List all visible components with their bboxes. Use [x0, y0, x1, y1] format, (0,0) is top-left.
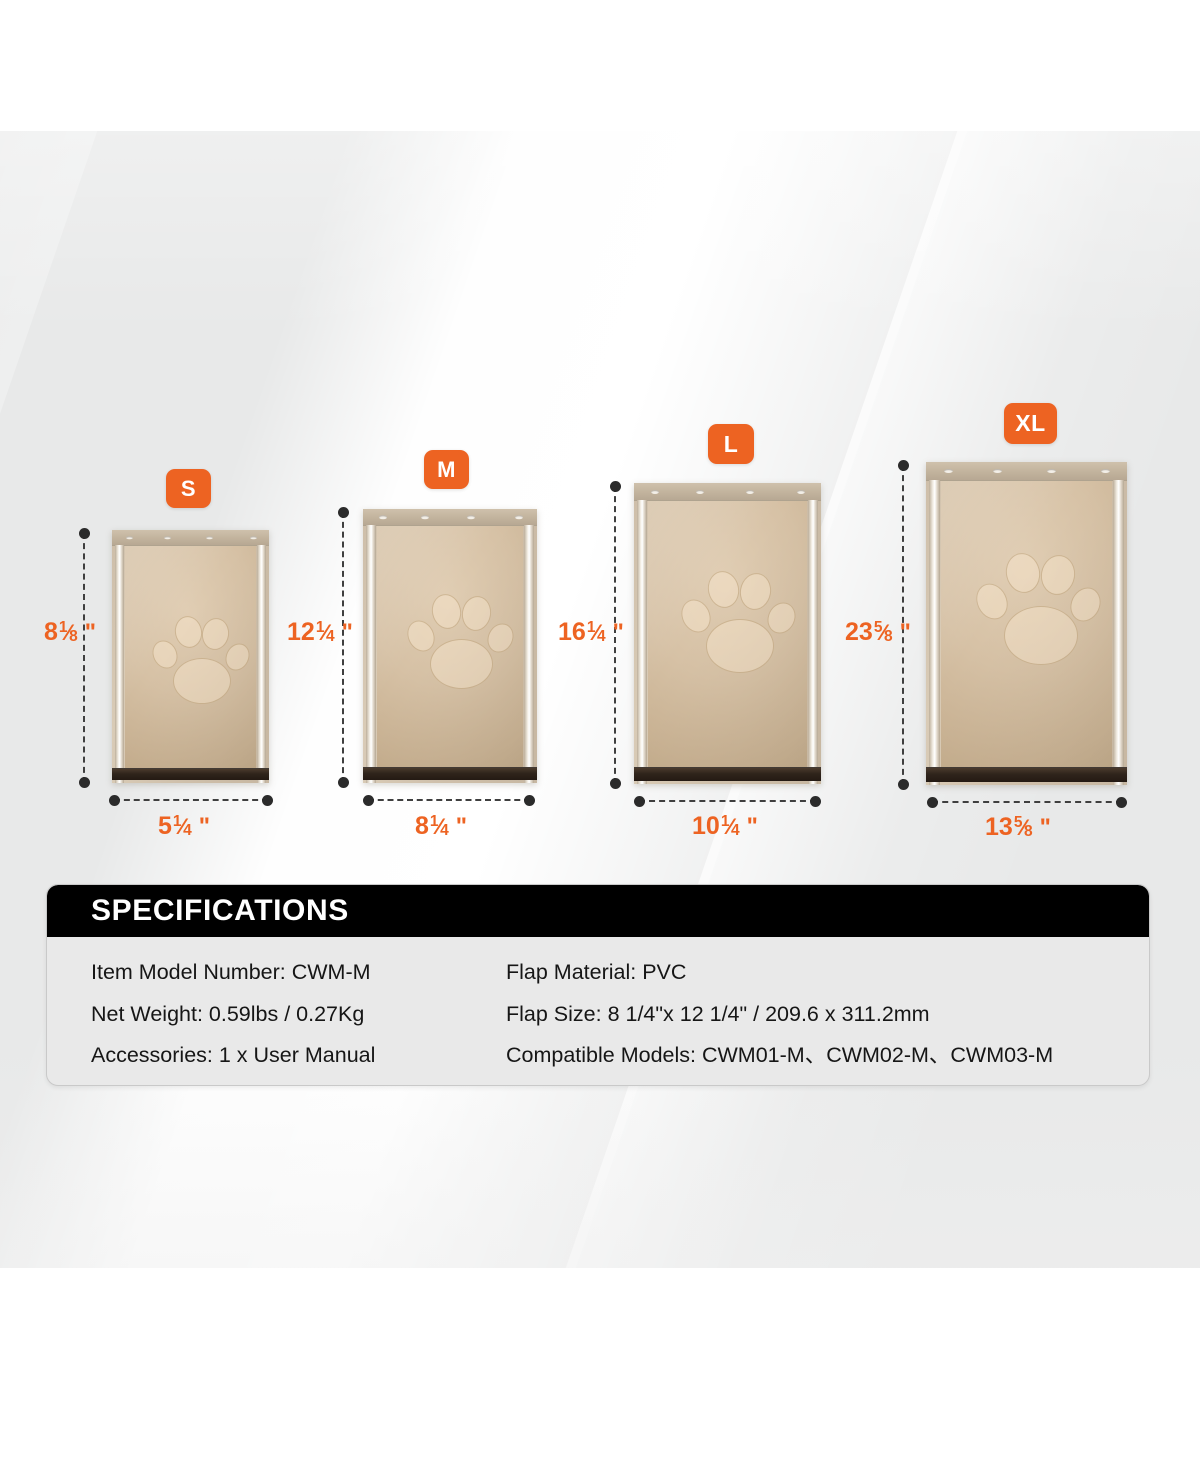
panel-top-mount-bar [634, 483, 821, 501]
pet-door-flap [377, 526, 523, 780]
dimension-unit: " [85, 619, 96, 647]
dimension-label-height-xl: 235⁄8" [845, 618, 911, 647]
specifications-card: SPECIFICATIONS Item Model Number: CWM-M … [46, 884, 1150, 1086]
specifications-body: Item Model Number: CWM-M Flap Material: … [47, 937, 1149, 1086]
dimension-endpoint [634, 796, 645, 807]
dimension-unit: " [900, 619, 911, 647]
fraction-denominator: 8 [69, 629, 78, 645]
dimension-stroke [639, 800, 816, 802]
fraction-denominator: 4 [440, 823, 449, 839]
screw-hole-icon [164, 536, 171, 540]
dimension-stroke [342, 512, 344, 783]
screw-hole-icon [515, 515, 523, 519]
dimension-endpoint [79, 528, 90, 539]
screw-hole-icon [206, 536, 213, 540]
dimension-stroke [114, 799, 268, 801]
dimension-line-horizontal-s [114, 799, 268, 801]
dimension-endpoint [1116, 797, 1127, 808]
spec-compatible-models: Compatible Models: CWM01-M、CWM02-M、CWM03… [506, 1042, 1149, 1070]
specifications-title: SPECIFICATIONS [47, 894, 349, 928]
dimension-value: 13 [985, 813, 1013, 842]
paw-print-icon [402, 594, 502, 672]
dimension-unit: " [1040, 814, 1051, 842]
size-badge-m: M [424, 450, 469, 489]
screw-hole-icon [696, 490, 704, 494]
dimension-unit: " [342, 619, 353, 647]
dimension-endpoint [524, 795, 535, 806]
door-panel-m [363, 509, 537, 783]
spec-net-weight: Net Weight: 0.59lbs / 0.27Kg [91, 1001, 506, 1029]
pet-door-flap [648, 501, 807, 781]
panel-bottom-weight-strip [363, 767, 537, 780]
spec-accessories: Accessories: 1 x User Manual [91, 1042, 506, 1070]
dimension-unit: " [456, 813, 467, 841]
dimension-line-vertical-m [342, 512, 344, 783]
size-badge-l: L [708, 424, 754, 464]
panel-side-rail-left [366, 525, 376, 783]
door-panel-l [634, 483, 821, 784]
screw-hole-icon [467, 515, 475, 519]
dimension-stroke [83, 533, 85, 783]
dimension-endpoint [109, 795, 120, 806]
dimension-endpoint [898, 779, 909, 790]
paw-print-icon [676, 571, 784, 655]
screw-hole-icon [126, 536, 133, 540]
dimension-line-vertical-s [83, 533, 85, 783]
dimension-endpoint [610, 778, 621, 789]
dimension-line-horizontal-m [368, 799, 530, 801]
dimension-label-height-l: 161⁄4" [558, 618, 624, 647]
dimension-stroke [368, 799, 530, 801]
spec-flap-material: Flap Material: PVC [506, 959, 1149, 987]
size-badge-xl: XL [1004, 403, 1057, 444]
dimension-line-horizontal-xl [932, 801, 1122, 803]
size-badge-s: S [166, 469, 211, 508]
screw-hole-icon [746, 490, 754, 494]
panel-side-rail-left [929, 480, 940, 785]
pet-door-flap [125, 546, 256, 780]
panel-top-mount-bar [926, 462, 1127, 481]
dimension-value: 12 [287, 618, 315, 647]
dimension-value: 5 [158, 812, 172, 841]
dimension-label-height-m: 121⁄4" [287, 618, 353, 647]
panel-side-rail-right [1113, 480, 1124, 785]
screw-hole-icon [250, 536, 257, 540]
screw-hole-icon [379, 515, 387, 519]
panel-bottom-weight-strip [926, 767, 1127, 782]
dimension-endpoint [898, 460, 909, 471]
screw-hole-icon [1047, 469, 1056, 473]
dimension-endpoint [610, 481, 621, 492]
dimension-label-height-s: 81⁄8" [44, 618, 96, 647]
dimension-endpoint [79, 777, 90, 788]
panel-top-mount-bar [112, 530, 269, 546]
size-badge-l-label: L [724, 431, 739, 458]
dimension-value: 23 [845, 618, 873, 647]
screw-hole-icon [944, 469, 953, 473]
dimension-endpoint [262, 795, 273, 806]
dimension-endpoint [363, 795, 374, 806]
panel-side-rail-right [808, 500, 818, 784]
dimension-value: 8 [415, 812, 429, 841]
panel-side-rail-right [257, 545, 266, 783]
screw-hole-icon [797, 490, 805, 494]
spec-item-model-number: Item Model Number: CWM-M [91, 959, 506, 987]
panel-top-mount-bar [363, 509, 537, 526]
screw-hole-icon [993, 469, 1002, 473]
screw-hole-icon [651, 490, 659, 494]
panel-bottom-weight-strip [634, 767, 821, 781]
screw-hole-icon [1101, 469, 1110, 473]
dimension-endpoint [338, 777, 349, 788]
size-badge-m-label: M [437, 457, 456, 483]
fraction-denominator: 8 [1024, 824, 1033, 840]
paw-print-icon [971, 553, 1089, 645]
dimension-unit: " [747, 813, 758, 841]
fraction-denominator: 8 [884, 629, 893, 645]
paw-print-icon [147, 616, 239, 688]
dimension-label-width-m: 81⁄4" [415, 812, 467, 841]
dimension-unit: " [613, 619, 624, 647]
size-badge-xl-label: XL [1015, 410, 1045, 437]
fraction-denominator: 4 [326, 629, 335, 645]
panel-side-rail-right [524, 525, 534, 783]
dimension-endpoint [338, 507, 349, 518]
dimension-unit: " [199, 813, 210, 841]
pet-door-flap [941, 481, 1112, 782]
panel-side-rail-left [115, 545, 124, 783]
fraction-denominator: 4 [183, 823, 192, 839]
fraction-denominator: 4 [597, 629, 606, 645]
dimension-stroke [932, 801, 1122, 803]
dimension-value: 10 [692, 812, 720, 841]
screw-hole-icon [421, 515, 429, 519]
dimension-endpoint [927, 797, 938, 808]
dimension-value: 16 [558, 618, 586, 647]
fraction-denominator: 4 [731, 823, 740, 839]
dimension-line-horizontal-l [639, 800, 816, 802]
door-panel-s [112, 530, 269, 783]
panel-side-rail-left [637, 500, 647, 784]
dimension-value: 8 [44, 618, 58, 647]
panel-bottom-weight-strip [112, 768, 269, 780]
dimension-label-width-s: 51⁄4" [158, 812, 210, 841]
spec-flap-size: Flap Size: 8 1/4"x 12 1/4" / 209.6 x 311… [506, 1001, 1149, 1029]
dimension-label-width-xl: 135⁄8" [985, 813, 1051, 842]
door-panel-xl [926, 462, 1127, 785]
size-badge-s-label: S [181, 476, 196, 502]
specifications-header: SPECIFICATIONS [47, 885, 1149, 937]
product-size-chart: S 81⁄8" [0, 0, 1200, 1466]
dimension-endpoint [810, 796, 821, 807]
dimension-label-width-l: 101⁄4" [692, 812, 758, 841]
